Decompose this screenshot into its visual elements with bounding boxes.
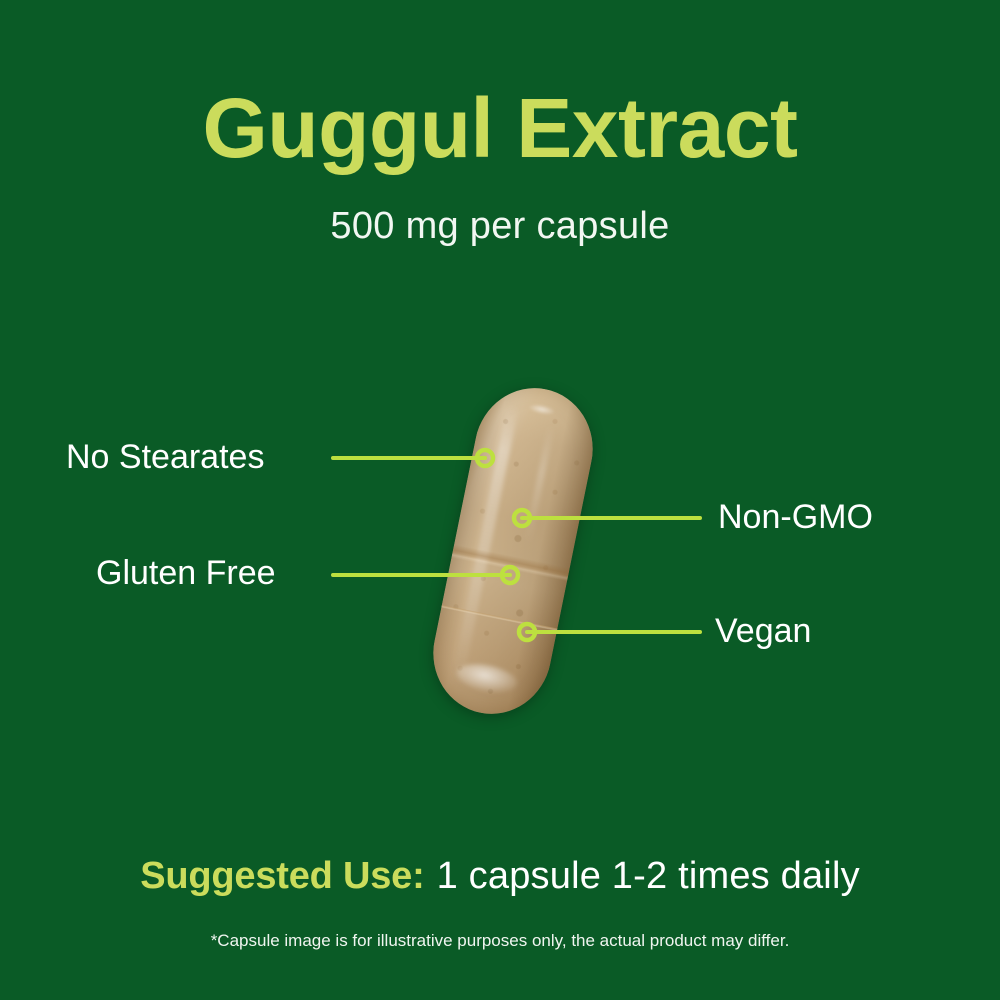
suggested-use-label: Suggested Use:: [140, 855, 424, 897]
disclaimer-text: *Capsule image is for illustrative purpo…: [0, 932, 1000, 949]
product-info-graphic: Guggul Extract 500 mg per capsule No Ste…: [0, 0, 1000, 1000]
product-dosage-subtitle: 500 mg per capsule: [0, 206, 1000, 248]
callout-label-no-stearates: No Stearates: [66, 440, 264, 474]
capsule-body: [422, 378, 603, 725]
suggested-use-line: Suggested Use:1 capsule 1-2 times daily: [0, 857, 1000, 895]
callout-label-gluten-free: Gluten Free: [96, 556, 276, 590]
callout-label-vegan: Vegan: [715, 614, 811, 648]
page-title: Guggul Extract: [0, 86, 1000, 170]
capsule-image: [418, 378, 608, 723]
suggested-use-value: 1 capsule 1-2 times daily: [437, 855, 860, 897]
callout-label-non-gmo: Non-GMO: [718, 500, 873, 534]
capsule-graphic: [422, 378, 603, 725]
